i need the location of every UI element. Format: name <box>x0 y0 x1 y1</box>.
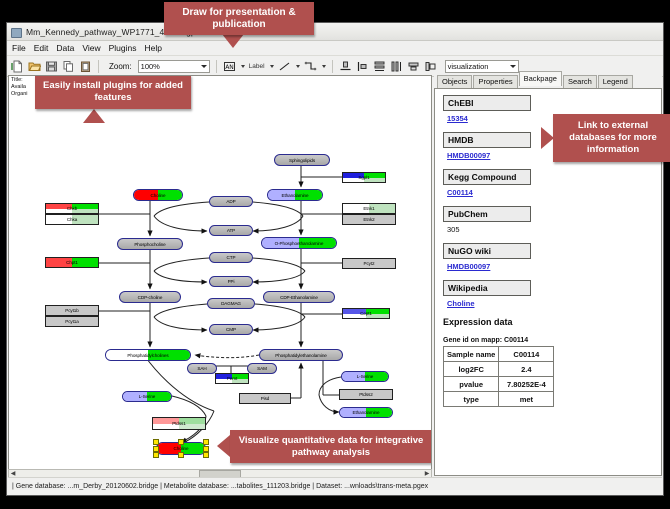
value-pubchem: 305 <box>447 225 661 234</box>
node-label: ATP <box>227 228 235 233</box>
tab-search[interactable]: Search <box>563 75 597 88</box>
chevron-down-icon <box>201 65 207 68</box>
node-label: Pcyt2 <box>364 261 375 266</box>
link-kegg[interactable]: C00114 <box>447 188 661 197</box>
node-label: L-Serine <box>139 394 156 399</box>
node-label: Etnk1 <box>363 206 374 211</box>
node-label: CDP-Ethanolamine <box>280 295 318 300</box>
metabolite-node[interactable]: Phosphocholine <box>117 238 183 250</box>
node-label: Ptdss2 <box>359 392 372 397</box>
gene-node[interactable]: Pemt <box>215 373 249 384</box>
align-bottom-icon[interactable] <box>339 60 352 73</box>
node-label: PPi <box>228 279 235 284</box>
callout-plugins-arrow <box>83 109 105 123</box>
metabolite-node[interactable]: SAM <box>247 363 277 374</box>
toolbar-separator <box>216 60 217 73</box>
callout-plugins-text: Easily install plugins for added feature… <box>39 80 187 104</box>
gene-node[interactable]: Pcyt1b <box>45 305 99 316</box>
paste-icon[interactable] <box>79 60 92 73</box>
app-icon <box>11 27 21 37</box>
group-icon[interactable] <box>424 60 437 73</box>
expression-value: 2.4 <box>499 362 554 377</box>
section-header-nugo: NuGO wiki <box>443 243 531 259</box>
expression-row: pvalue7.80252E-4 <box>444 377 554 392</box>
gene-id-line: Gene id on mapp: C00114 <box>443 337 661 344</box>
node-label: CMP <box>226 327 236 332</box>
expression-value: 7.80252E-4 <box>499 377 554 392</box>
distribute-horizontal-icon[interactable] <box>390 60 403 73</box>
node-label: Pcyt1a <box>65 319 78 324</box>
tab-objects[interactable]: Objects <box>437 75 472 88</box>
meta-availability: Availa <box>11 84 28 91</box>
tab-properties[interactable]: Properties <box>473 75 517 88</box>
metabolite-node[interactable]: Sphingolipids <box>274 154 330 166</box>
metabolite-node[interactable]: DAGMAG <box>207 298 255 309</box>
node-label: Ethanolamine <box>353 410 380 415</box>
node-label: Choline <box>151 193 166 198</box>
expression-value: C00114 <box>499 347 554 362</box>
metabolite-node[interactable]: CDP-choline <box>119 291 181 303</box>
toolbar-separator <box>98 60 99 73</box>
chevron-down-icon[interactable] <box>241 65 245 68</box>
menu-plugins[interactable]: Plugins <box>109 43 137 53</box>
line-icon[interactable] <box>278 60 291 73</box>
selection-handle[interactable] <box>178 439 184 445</box>
expression-row: Sample nameC00114 <box>444 347 554 362</box>
side-panel-tabs: Objects Properties Backpage Search Legen… <box>434 75 662 88</box>
expression-data-title: Expression data <box>443 317 661 327</box>
node-label: Chka <box>67 217 77 222</box>
scroll-right-icon[interactable]: ▶ <box>423 470 431 477</box>
node-label: L-Serine <box>357 374 374 379</box>
metabolite-node[interactable]: Phosphatidylcholines <box>105 349 191 361</box>
menu-file[interactable]: File <box>12 43 26 53</box>
title-bar: Mm_Kennedy_pathway_WP1771_45176.gpml <box>7 23 663 41</box>
toolbar-separator <box>332 60 333 73</box>
gene-node[interactable]: Pcyt1a <box>45 316 99 327</box>
callout-draw-text: Draw for presentation & publication <box>170 7 308 31</box>
metabolite-node[interactable]: O-Phosphoethanolamine <box>261 237 337 249</box>
node-label: Etnk2 <box>363 217 374 222</box>
metabolite-node[interactable]: Ethanolamine <box>339 407 393 418</box>
visualization-combo[interactable]: visualization <box>445 60 519 73</box>
link-nugo[interactable]: HMDB00097 <box>447 262 661 271</box>
expression-key: log2FC <box>444 362 499 377</box>
callout-links-text: Link to external databases for more info… <box>558 120 668 156</box>
zoom-value: 100% <box>141 62 160 71</box>
section-header-chebi: ChEBI <box>443 95 531 111</box>
metabolite-node[interactable]: SAH <box>187 363 217 374</box>
node-label: SAH <box>197 366 206 371</box>
zoom-combo[interactable]: 100% <box>138 60 210 73</box>
visualization-value: visualization <box>448 62 489 71</box>
selection-handle[interactable] <box>153 452 159 458</box>
chevron-down-icon <box>510 65 516 68</box>
pathway-metadata: Title: Availa Organi <box>11 77 28 98</box>
callout-links: Link to external databases for more info… <box>553 114 670 162</box>
expression-row: log2FC2.4 <box>444 362 554 377</box>
node-label: SAM <box>257 366 267 371</box>
metabolite-node[interactable]: CMP <box>209 324 253 335</box>
section-header-kegg: Kegg Compound <box>443 169 531 185</box>
application-window: Mm_Kennedy_pathway_WP1771_45176.gpml Fil… <box>6 22 664 496</box>
gene-node[interactable]: Cept1 <box>342 308 390 319</box>
metabolite-node[interactable]: L-Serine <box>122 391 172 402</box>
screenshot-root: Mm_Kennedy_pathway_WP1771_45176.gpml Fil… <box>0 0 670 509</box>
new-file-icon[interactable] <box>11 60 24 73</box>
node-label: Phosphocholine <box>134 242 165 247</box>
node-label: Pisd <box>261 396 270 401</box>
selection-handle[interactable] <box>153 446 159 452</box>
gene-node[interactable]: Chkb <box>45 203 99 214</box>
gene-node[interactable]: Ptdss1 <box>152 417 206 430</box>
gene-node[interactable]: Ptdss2 <box>339 389 393 400</box>
node-label: Chpt1 <box>66 260 78 265</box>
node-label: Pemt <box>227 376 237 381</box>
selection-handle[interactable] <box>203 439 209 445</box>
menu-help[interactable]: Help <box>145 43 162 53</box>
scroll-left-icon[interactable]: ◀ <box>9 470 17 477</box>
node-label: Ethanolamine <box>282 193 309 198</box>
node-label: Cept1 <box>360 311 372 316</box>
link-wikipedia[interactable]: Choline <box>447 299 661 308</box>
node-label: Sphingolipids <box>289 158 315 163</box>
node-label: Phosphatidylcholines <box>127 353 168 358</box>
connector-icon[interactable] <box>304 60 317 73</box>
expression-row: typemet <box>444 392 554 407</box>
node-label: CTP <box>227 255 236 260</box>
node-label: Chkb <box>67 206 77 211</box>
metabolite-node[interactable]: PPi <box>209 276 253 287</box>
chevron-down-icon[interactable] <box>270 65 274 68</box>
node-label: Phosphatidylethanolamine <box>275 353 327 358</box>
node-label: CDP-choline <box>138 295 163 300</box>
gene-node[interactable]: Sgpl1 <box>342 172 386 183</box>
expression-value: met <box>499 392 554 407</box>
chevron-down-icon[interactable] <box>322 65 326 68</box>
gene-node[interactable]: Etnk1 <box>342 203 396 214</box>
expression-key: Sample name <box>444 347 499 362</box>
tool-bar: Zoom: 100% AN Label visualization <box>7 56 663 77</box>
node-label: Sgpl1 <box>358 175 369 180</box>
tab-legend[interactable]: Legend <box>598 75 633 88</box>
section-header-wikipedia: Wikipedia <box>443 280 531 296</box>
callout-draw-arrow <box>222 34 244 48</box>
expression-key: type <box>444 392 499 407</box>
distribute-vertical-icon[interactable] <box>373 60 386 73</box>
selection-handle[interactable] <box>178 452 184 458</box>
status-bar: | Gene database: ...m_Derby_20120602.bri… <box>8 477 662 494</box>
copy-icon[interactable] <box>62 60 75 73</box>
datanode-icon[interactable]: AN <box>223 60 236 73</box>
stack-icon[interactable] <box>407 60 420 73</box>
zoom-label: Zoom: <box>109 62 132 71</box>
gene-node[interactable]: Pisd <box>239 393 291 404</box>
callout-visualize-text: Visualize quantitative data for integrat… <box>236 435 426 459</box>
metabolite-node[interactable]: Ethanolamine <box>267 189 323 201</box>
section-header-pubchem: PubChem <box>443 206 531 222</box>
expression-key: pvalue <box>444 377 499 392</box>
gene-node[interactable]: Etnk2 <box>342 214 396 225</box>
node-label: Ptdss1 <box>172 421 185 426</box>
meta-organism: Organi <box>11 91 28 98</box>
pathway-canvas[interactable]: Title: Availa Organi <box>8 75 432 476</box>
metabolite-node[interactable]: Choline <box>133 189 183 201</box>
node-label: ADP <box>226 199 235 204</box>
selection-handle[interactable] <box>203 446 209 452</box>
callout-draw: Draw for presentation & publication <box>164 2 314 35</box>
metabolite-node[interactable]: ADP <box>209 196 253 207</box>
callout-plugins: Easily install plugins for added feature… <box>35 75 191 109</box>
chevron-down-icon[interactable] <box>296 65 300 68</box>
gene-node[interactable]: Chka <box>45 214 99 225</box>
metabolite-node[interactable]: ATP <box>209 225 253 236</box>
metabolite-node[interactable]: CTP <box>209 252 253 263</box>
menu-data[interactable]: Data <box>56 43 74 53</box>
menu-edit[interactable]: Edit <box>34 43 49 53</box>
meta-title: Title: <box>11 77 28 84</box>
open-folder-icon[interactable] <box>28 60 41 73</box>
gene-node[interactable]: Pcyt2 <box>342 258 396 269</box>
expression-table: Sample nameC00114log2FC2.4pvalue7.80252E… <box>443 346 554 407</box>
metabolite-node[interactable]: Phosphatidylethanolamine <box>259 349 343 361</box>
label-button[interactable]: Label <box>249 63 265 70</box>
node-label: Choline <box>174 446 189 451</box>
menu-view[interactable]: View <box>82 43 100 53</box>
selection-handle[interactable] <box>203 452 209 458</box>
metabolite-node[interactable]: CDP-Ethanolamine <box>263 291 335 303</box>
selection-handle[interactable] <box>153 439 159 445</box>
node-label: Pcyt1b <box>65 308 78 313</box>
align-left-icon[interactable] <box>356 60 369 73</box>
node-label: DAGMAG <box>221 301 241 306</box>
svg-text:AN: AN <box>225 63 234 70</box>
status-text: | Gene database: ...m_Derby_20120602.bri… <box>8 483 428 490</box>
callout-visualize: Visualize quantitative data for integrat… <box>230 430 432 463</box>
node-label: O-Phosphoethanolamine <box>275 241 324 246</box>
gene-node[interactable]: Chpt1 <box>45 257 99 268</box>
menu-bar: File Edit Data View Plugins Help <box>7 41 663 56</box>
callout-visualize-arrow <box>217 435 230 457</box>
save-icon[interactable] <box>45 60 58 73</box>
tab-backpage[interactable]: Backpage <box>519 71 562 86</box>
metabolite-node[interactable]: L-Serine <box>341 371 389 382</box>
section-header-hmdb: HMDB <box>443 132 531 148</box>
